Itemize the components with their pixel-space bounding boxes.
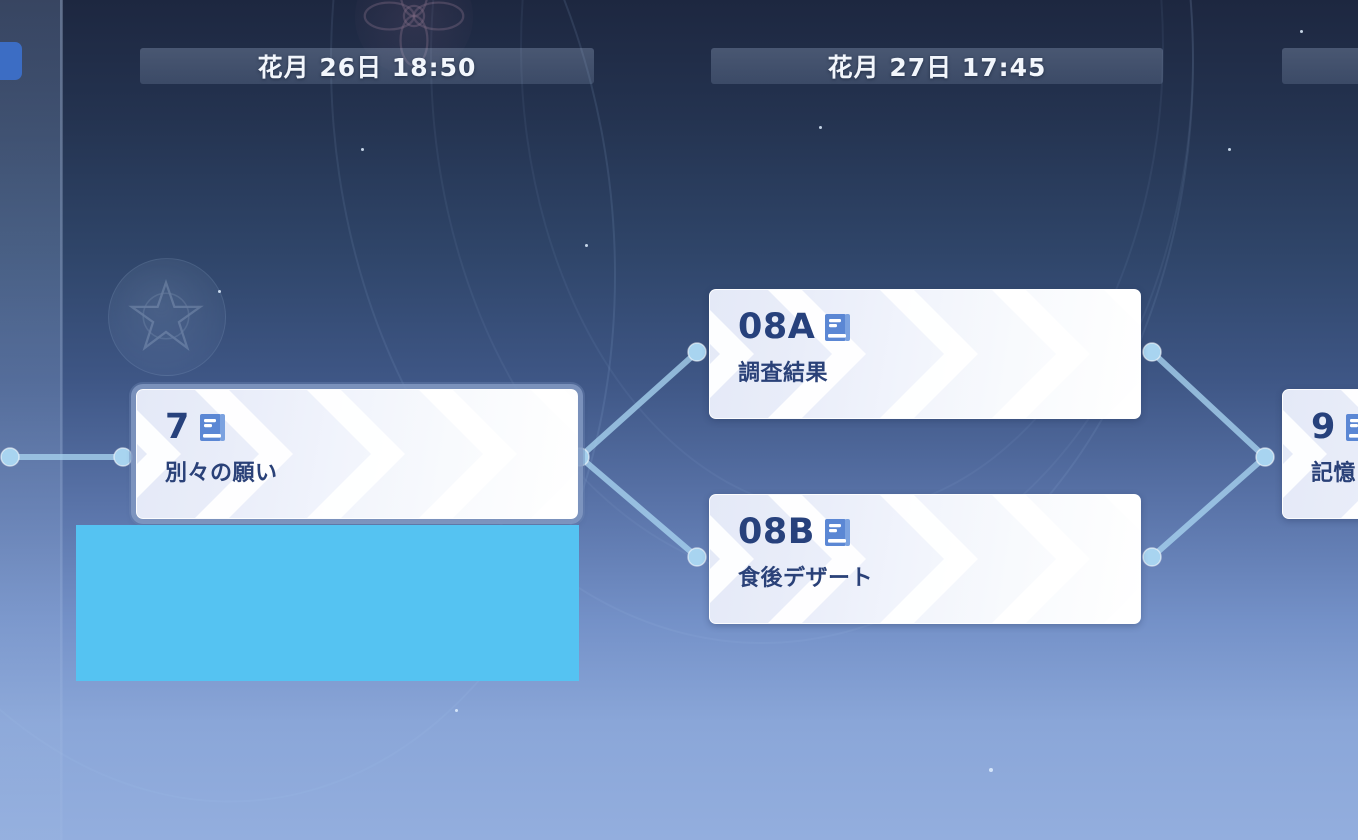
sparkle-dot bbox=[585, 244, 588, 247]
story-node-card[interactable]: 08A調査結果 bbox=[709, 289, 1141, 419]
story-node-card-head: 08A bbox=[738, 310, 1140, 345]
book-icon bbox=[824, 313, 851, 342]
story-node-card[interactable]: 9記憶 bbox=[1282, 389, 1358, 519]
story-node-title: 記憶 bbox=[1311, 455, 1358, 487]
edge-08a-to-9 bbox=[1152, 352, 1265, 457]
highlight-panel[interactable] bbox=[76, 525, 579, 681]
timeline-header-label: 花月 26日 18:50 bbox=[258, 48, 477, 84]
sparkle-dot bbox=[218, 290, 221, 293]
background-left-band bbox=[0, 0, 62, 840]
sparkle-dot bbox=[1228, 148, 1231, 151]
story-node-card-head: 08B bbox=[738, 515, 1140, 550]
story-node-card-head: 9 bbox=[1311, 410, 1358, 445]
story-node-card-body: 7別々の願い bbox=[137, 390, 577, 518]
story-branch-timeline-screen: 花月 26日 18:50花月 27日 17:45 7別々の願い08A調査結果08… bbox=[0, 0, 1358, 840]
story-node-title: 食後デザート bbox=[738, 560, 1140, 592]
timeline-header-label: 花月 27日 17:45 bbox=[828, 48, 1047, 84]
sparkle-dot bbox=[455, 709, 458, 712]
story-node-number: 08B bbox=[738, 515, 815, 550]
story-node-title: 調査結果 bbox=[738, 355, 1140, 387]
sparkle-dot bbox=[361, 148, 364, 151]
story-node-card-body: 9記憶 bbox=[1283, 390, 1358, 518]
link-node-08a-in[interactable] bbox=[688, 343, 706, 361]
sparkle-dot bbox=[819, 126, 822, 129]
link-node-08a-out[interactable] bbox=[1143, 343, 1161, 361]
link-node-08b-in[interactable] bbox=[688, 548, 706, 566]
star-emblem-icon bbox=[128, 278, 204, 354]
link-node-entry-left[interactable] bbox=[1, 448, 19, 466]
link-node-9-in[interactable] bbox=[1256, 448, 1274, 466]
timeline-header-bar: 花月 27日 17:45 bbox=[711, 48, 1163, 84]
corner-badge[interactable] bbox=[0, 42, 22, 80]
link-node-7-in[interactable] bbox=[114, 448, 132, 466]
book-icon bbox=[199, 413, 226, 442]
story-node-title: 別々の願い bbox=[165, 455, 577, 487]
book-icon bbox=[824, 518, 851, 547]
background-emblem-circle bbox=[108, 258, 226, 376]
book-icon bbox=[1345, 413, 1358, 442]
link-node-08b-out[interactable] bbox=[1143, 548, 1161, 566]
sparkle-dot bbox=[1300, 30, 1303, 33]
story-node-card-body: 08B食後デザート bbox=[710, 495, 1140, 623]
story-node-card[interactable]: 7別々の願い bbox=[136, 389, 578, 519]
story-node-number: 9 bbox=[1311, 410, 1336, 445]
story-node-card[interactable]: 08B食後デザート bbox=[709, 494, 1141, 624]
story-node-card-head: 7 bbox=[165, 410, 577, 445]
story-node-card-body: 08A調査結果 bbox=[710, 290, 1140, 418]
story-node-number: 7 bbox=[165, 410, 190, 445]
edge-7-to-08b bbox=[580, 457, 697, 557]
edge-7-to-08a bbox=[580, 352, 697, 457]
sparkle-dot bbox=[989, 768, 993, 772]
story-node-number: 08A bbox=[738, 310, 815, 345]
timeline-header-bar: 花月 26日 18:50 bbox=[140, 48, 594, 84]
timeline-header-bar bbox=[1282, 48, 1358, 84]
edge-08b-to-9 bbox=[1152, 457, 1265, 557]
background-left-band-edge bbox=[60, 0, 63, 840]
